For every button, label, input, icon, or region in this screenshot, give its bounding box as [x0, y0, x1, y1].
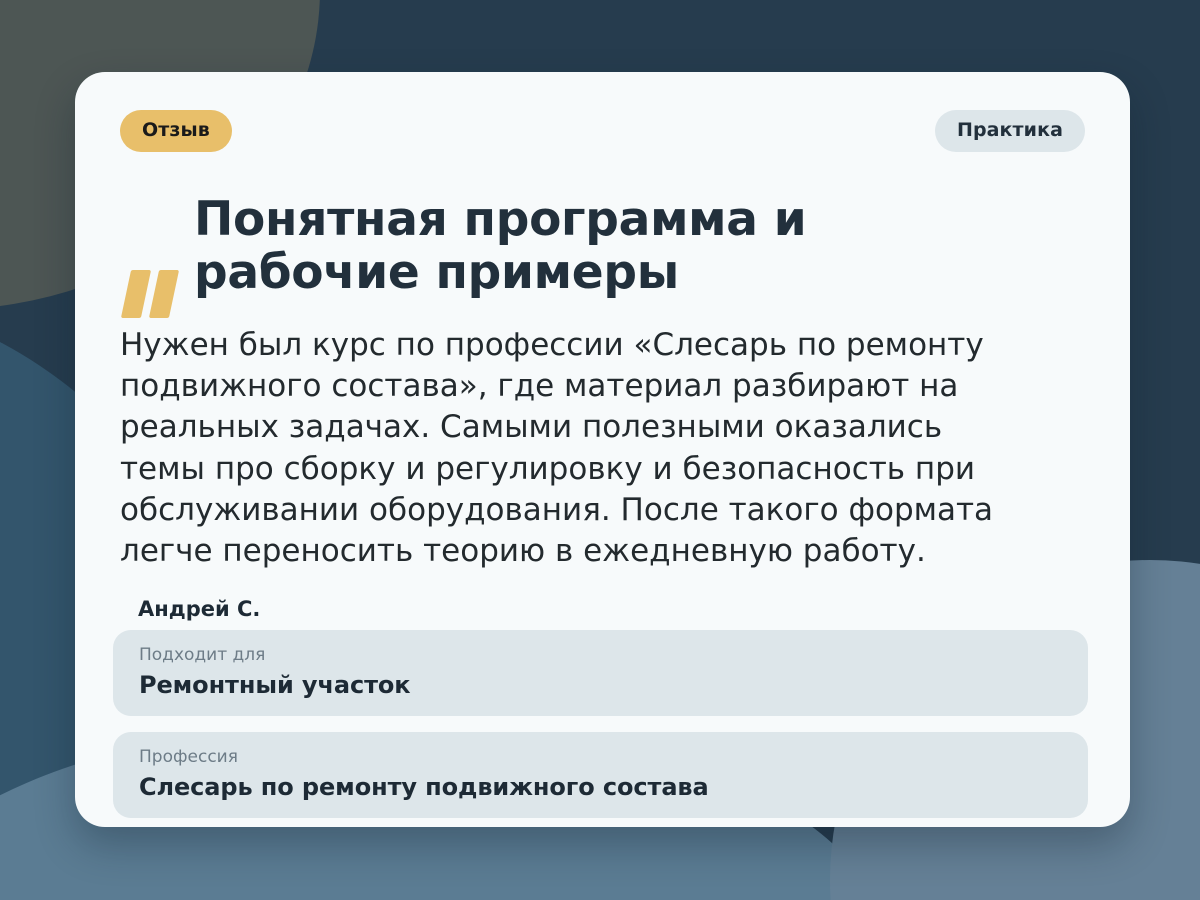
- badge-row: Отзыв Практика: [120, 110, 1085, 152]
- info-card-label: Профессия: [139, 747, 1062, 767]
- review-headline: Понятная программа и рабочие примеры: [194, 194, 1034, 299]
- testimonial-slide: Отзыв Практика Понятная программа и рабо…: [0, 0, 1200, 900]
- info-card-label: Подходит для: [139, 645, 1062, 665]
- info-card-value: Ремонтный участок: [139, 671, 1062, 699]
- review-body: Нужен был курс по профессии «Слесарь по …: [120, 325, 1025, 572]
- info-card-value: Слесарь по ремонту подвижного состава: [139, 773, 1062, 801]
- badge-review-kind: Отзыв: [120, 110, 232, 152]
- info-card-suitable-for: Подходит для Ремонтный участок: [113, 630, 1088, 716]
- headline-block: Понятная программа и рабочие примеры: [120, 194, 1080, 320]
- badge-review-format: Практика: [935, 110, 1085, 152]
- info-card-profession: Профессия Слесарь по ремонту подвижного …: [113, 732, 1088, 818]
- quote-mark-icon: [122, 270, 184, 320]
- review-card: Отзыв Практика Понятная программа и рабо…: [75, 72, 1130, 827]
- review-author: Андрей С.: [138, 597, 260, 621]
